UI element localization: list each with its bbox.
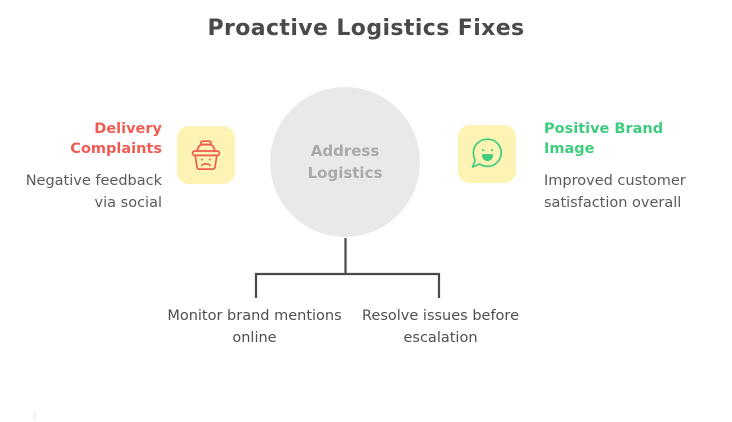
watermark-mark bbox=[33, 412, 36, 420]
left-icon-tile[interactable] bbox=[177, 126, 235, 184]
right-heading: Positive Brand Image bbox=[544, 120, 694, 159]
right-icon-tile[interactable] bbox=[458, 125, 516, 183]
right-body: Improved customer satisfaction overall bbox=[544, 170, 694, 214]
left-heading: Delivery Complaints bbox=[12, 120, 162, 159]
page-title: Proactive Logistics Fixes bbox=[0, 16, 732, 41]
center-node-label: Address Logistics bbox=[308, 140, 383, 185]
center-node[interactable]: Address Logistics bbox=[270, 87, 420, 237]
smiling-speech-bubble-icon bbox=[468, 135, 506, 173]
infographic-canvas: Proactive Logistics Fixes Address Logist… bbox=[0, 0, 732, 422]
left-text-block: Delivery Complaints Negative feedback vi… bbox=[12, 120, 162, 214]
sad-basket-icon bbox=[187, 136, 225, 174]
branch-label-left: Monitor brand mentions online bbox=[162, 306, 347, 350]
branch-label-right: Resolve issues before escalation bbox=[348, 306, 533, 350]
right-text-block: Positive Brand Image Improved customer s… bbox=[544, 120, 694, 214]
left-body: Negative feedback via social bbox=[12, 170, 162, 214]
